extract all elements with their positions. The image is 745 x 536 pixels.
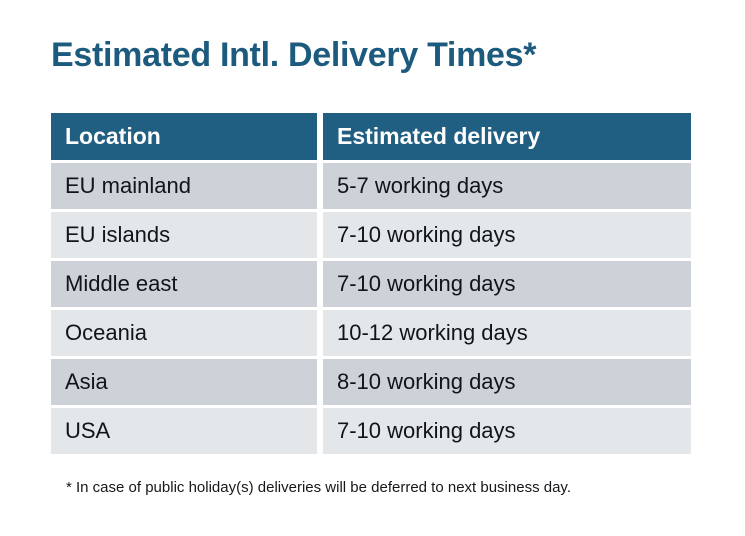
cell-delivery: 10-12 working days bbox=[323, 310, 691, 356]
table-row: Asia 8-10 working days bbox=[51, 359, 691, 405]
table-row: EU mainland 5-7 working days bbox=[51, 163, 691, 209]
cell-delivery: 5-7 working days bbox=[323, 163, 691, 209]
cell-delivery: 7-10 working days bbox=[323, 212, 691, 258]
cell-location: USA bbox=[51, 408, 317, 454]
table-row: Middle east 7-10 working days bbox=[51, 261, 691, 307]
table-row: USA 7-10 working days bbox=[51, 408, 691, 454]
cell-location: Middle east bbox=[51, 261, 317, 307]
cell-location: Oceania bbox=[51, 310, 317, 356]
cell-delivery: 7-10 working days bbox=[323, 261, 691, 307]
page-title: Estimated Intl. Delivery Times* bbox=[51, 36, 536, 75]
column-header-location: Location bbox=[51, 113, 317, 160]
cell-location: EU islands bbox=[51, 212, 317, 258]
cell-location: Asia bbox=[51, 359, 317, 405]
column-header-estimated-delivery: Estimated delivery bbox=[323, 113, 691, 160]
delivery-times-document: Estimated Intl. Delivery Times* Location… bbox=[0, 0, 745, 536]
table-row: EU islands 7-10 working days bbox=[51, 212, 691, 258]
cell-delivery: 7-10 working days bbox=[323, 408, 691, 454]
footnote-text: * In case of public holiday(s) deliverie… bbox=[66, 479, 571, 496]
cell-location: EU mainland bbox=[51, 163, 317, 209]
table-header-row: Location Estimated delivery bbox=[51, 113, 691, 160]
cell-delivery: 8-10 working days bbox=[323, 359, 691, 405]
delivery-times-table: Location Estimated delivery EU mainland … bbox=[51, 113, 691, 454]
table-row: Oceania 10-12 working days bbox=[51, 310, 691, 356]
